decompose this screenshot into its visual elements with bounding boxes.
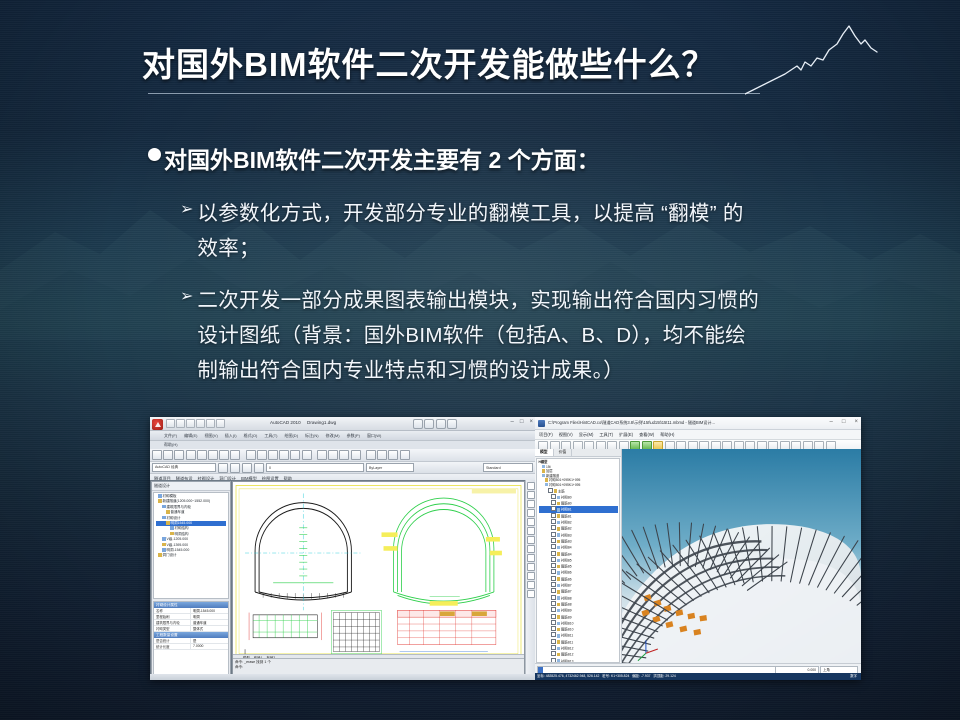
checkbox-icon[interactable] [551, 595, 556, 600]
bim-body: 模型价值 H模型15t加层新建隧道衬砌B01+095̈K1+095衬砌B01+0… [535, 449, 861, 664]
checkbox-icon[interactable] [551, 582, 556, 587]
checkbox-icon[interactable] [551, 620, 556, 625]
bim-menu-item-1[interactable]: 视图(V) [559, 432, 573, 438]
status-right-text: 数字 [850, 673, 857, 680]
bim-panel-tab-0[interactable]: 模型 [535, 449, 554, 456]
checkbox-icon[interactable] [551, 569, 556, 574]
workspace-combo[interactable]: AutoCAD 经典 [152, 463, 216, 472]
checkbox-icon[interactable] [551, 513, 556, 518]
bim-model-tree[interactable]: H模型15t加层新建隧道衬砌B01+095̈K1+095衬砌B01+095̈K1… [536, 458, 620, 663]
autocad-drawing-canvas[interactable]: 模型布局1布局2 命令: _erase 找到 1 个 命令: [232, 481, 525, 680]
property-value[interactable]: 整体式 [190, 626, 228, 631]
toolbar-icon-7[interactable] [230, 450, 240, 460]
autocad-app-title: AutoCAD 2010 [270, 420, 301, 425]
node-icon [557, 603, 561, 607]
node-icon [557, 533, 561, 537]
bim-menu-item-5[interactable]: 查看(W) [639, 432, 654, 438]
erase-icon[interactable] [527, 482, 535, 490]
checkbox-icon[interactable] [551, 601, 556, 606]
layer-lock-icon[interactable] [254, 463, 264, 473]
rotate-icon[interactable] [527, 536, 535, 544]
node-icon [158, 499, 162, 503]
checkbox-icon[interactable] [551, 607, 556, 612]
tunnel-design-palette: 隧道设计 衬砌模板 新建隧道(1205.000~1552.000) 建筑限界与内… [151, 481, 231, 679]
node-icon [162, 543, 166, 547]
toolbar-icon-20[interactable] [388, 450, 398, 460]
checkbox-icon[interactable] [551, 500, 556, 505]
palette-title: 隧道设计 [152, 482, 230, 491]
layer-value: 0 [269, 466, 271, 470]
property-key: 名称 [154, 608, 190, 613]
open-icon[interactable] [176, 419, 185, 428]
textstyle-value: Standard [486, 466, 501, 470]
node-icon [545, 483, 549, 487]
sub-bullet-1: ➢ 以参数化方式，开发部分专业的翻模工具，以提高 “翻模” 的 效率； [180, 196, 880, 266]
toolbar-icon-17[interactable] [351, 450, 361, 460]
scale-icon[interactable] [527, 545, 535, 553]
infocenter [413, 419, 458, 429]
node-icon [557, 647, 561, 651]
autocad-titlebar: AutoCAD 2010 Drawing1.dwg – □ × [150, 417, 535, 431]
window-controls: – □ × [511, 419, 533, 425]
command-line-prompt: 命令: [235, 665, 522, 670]
bim-menubar: 项目(F)视图(V)显示(M)工具(T)扩展(E)查看(W)帮助(H) [535, 430, 861, 440]
checkbox-icon[interactable] [551, 576, 556, 581]
workspace-value: AutoCAD 经典 [155, 465, 178, 470]
checkbox-icon[interactable] [551, 538, 556, 543]
autocad-standard-toolbar [150, 449, 535, 462]
bim-titlebar: C:\Program Files\HintCAD.co\隧道CAD系统3.8\示… [535, 417, 861, 430]
minimize-icon[interactable]: – [830, 419, 833, 425]
checkbox-icon[interactable] [551, 494, 556, 499]
search-icon[interactable] [413, 419, 423, 429]
star-icon[interactable] [436, 419, 446, 429]
checkbox-icon[interactable] [551, 651, 556, 656]
node-icon [557, 496, 561, 500]
slide-root: 对国外BIM软件二次开发能做些什么？ 对国外BIM软件二次开发主要有 2 个方面… [0, 0, 960, 720]
node-icon [557, 540, 561, 544]
checkbox-icon[interactable] [551, 626, 556, 631]
screenshot-image: AutoCAD 2010 Drawing1.dwg – □ × 文件(F)编辑(… [150, 417, 861, 680]
layer-on-icon[interactable] [230, 463, 240, 473]
menu-item-1[interactable]: 编辑(E) [184, 433, 197, 439]
toolbar-icon-14[interactable] [317, 450, 327, 460]
menu-item-help[interactable]: 帮助(H) [164, 442, 178, 448]
minimize-icon[interactable]: – [511, 419, 514, 425]
new-icon[interactable] [166, 419, 175, 428]
checkbox-icon[interactable] [551, 588, 556, 593]
autocad-menubar-row2: 帮助(H) [150, 441, 535, 449]
sub-bullet-2: ➢ 二次开发一部分成果图表输出模块，实现输出符合国内习惯的 设计图纸（背景：国外… [180, 283, 880, 388]
property-key: 建筑限界与内轮 [154, 620, 190, 625]
node-icon [557, 527, 561, 531]
node-icon [557, 640, 561, 644]
undo-icon[interactable] [196, 419, 205, 428]
tunnel-tree[interactable]: 衬砌模板 新建隧道(1205.000~1552.000) 建筑限界与内轮 普通车… [153, 492, 229, 599]
property-value[interactable]: 普通车道 [190, 620, 228, 625]
bim-menu-item-6[interactable]: 帮助(H) [660, 432, 674, 438]
node-icon [557, 615, 561, 619]
node-icon [557, 508, 561, 512]
toolbar-icon-16[interactable] [339, 450, 349, 460]
node-icon [557, 565, 561, 569]
checkbox-icon[interactable] [551, 614, 556, 619]
explode-icon[interactable] [527, 590, 535, 598]
station-value: K1+305.824 [611, 674, 629, 678]
close-icon[interactable]: × [854, 419, 858, 425]
arrow-bullet-icon: ➢ [180, 196, 193, 224]
toolbar-icon-11[interactable] [279, 450, 289, 460]
redo-icon[interactable] [206, 419, 215, 428]
bim-3d-viewport[interactable] [622, 449, 861, 664]
bim-menu-item-0[interactable]: 项目(F) [539, 432, 553, 438]
node-icon [557, 653, 561, 657]
checkbox-icon[interactable] [551, 632, 556, 637]
quick-access-toolbar [166, 419, 225, 428]
node-icon [170, 532, 174, 536]
node-icon [542, 469, 546, 473]
node-icon [158, 553, 162, 557]
node-icon [557, 590, 561, 594]
station-label: 桩号: [602, 674, 610, 678]
checkbox-icon[interactable] [551, 557, 556, 562]
menu-item-7[interactable]: 标注(N) [305, 433, 319, 439]
node-icon [162, 516, 166, 520]
arrow-bullet-icon: ➢ [180, 283, 193, 311]
toolbar-icon-2[interactable] [174, 450, 184, 460]
title-underline [148, 93, 760, 94]
bim-model-panel: 模型价值 H模型15t加层新建隧道衬砌B01+095̈K1+095衬砌B01+0… [535, 449, 622, 664]
node-icon [162, 548, 166, 552]
help-icon[interactable] [424, 419, 434, 429]
coordinate-readout: 坐标: 483525.476, 4732462.948, 526.142 桩号:… [535, 673, 861, 680]
toolbar-icon-13[interactable] [302, 450, 312, 460]
autocad-properties-toolbar: AutoCAD 经典 0 ByLayer Standard [150, 462, 535, 474]
node-icon [557, 552, 561, 556]
node-icon [557, 571, 561, 575]
toolbar-icon-21[interactable] [400, 450, 410, 460]
bim-window-controls: – □ × [830, 419, 858, 425]
toolbar-icon-12[interactable] [290, 450, 300, 460]
elev-label: 拱顶距: [653, 674, 664, 678]
property-key: 是否统计 [154, 638, 190, 643]
linetype-combo[interactable]: ByLayer [366, 463, 414, 472]
toolbar-icon-0[interactable] [152, 450, 162, 460]
property-value[interactable]: 是 [190, 638, 228, 643]
bim-panel-tab-1[interactable]: 价值 [554, 449, 573, 456]
checkbox-icon[interactable] [551, 525, 556, 530]
menu-item-3[interactable]: 插入(I) [225, 433, 237, 439]
property-row[interactable]: 统计长度7.0000 [154, 644, 228, 650]
menu-item-2[interactable]: 视图(V) [204, 433, 217, 439]
checkbox-icon[interactable] [551, 506, 556, 511]
toolbar-icon-1[interactable] [163, 450, 173, 460]
tunnel-rebar-3d-model [622, 449, 861, 664]
node-icon [545, 478, 549, 482]
checkbox-icon[interactable] [551, 639, 556, 644]
bullet-main: 对国外BIM软件二次开发主要有 2 个方面： [148, 141, 600, 175]
toolbar-icon-15[interactable] [328, 450, 338, 460]
offset-value: -7.937 [641, 674, 651, 678]
bim-menu-item-2[interactable]: 显示(M) [579, 432, 594, 438]
property-value[interactable]: 7.0000 [190, 644, 228, 649]
bim-menu-item-3[interactable]: 工具(T) [599, 432, 613, 438]
menu-item-10[interactable]: 窗口(W) [367, 433, 381, 439]
checkbox-icon[interactable] [551, 532, 556, 537]
node-icon [162, 505, 166, 509]
maximize-icon[interactable]: □ [842, 419, 846, 425]
layer-manager-icon[interactable] [218, 463, 228, 473]
toolbar-icon-3[interactable] [186, 450, 196, 460]
autocad-window: AutoCAD 2010 Drawing1.dwg – □ × 文件(F)编辑(… [150, 417, 535, 680]
mountain-peak-line-icon [745, 22, 960, 100]
save-icon[interactable] [186, 419, 195, 428]
toolbar-icon-6[interactable] [219, 450, 229, 460]
node-icon [557, 521, 561, 525]
property-value[interactable]: 明洞-1545.000 [190, 608, 228, 613]
linetype-value: ByLayer [369, 466, 382, 470]
node-icon [557, 584, 561, 588]
node-icon [170, 526, 174, 530]
node-icon [557, 514, 561, 518]
autocad-title-text: AutoCAD 2010 Drawing1.dwg [270, 420, 336, 425]
sign-in-icon[interactable] [447, 419, 457, 429]
checkbox-icon[interactable] [551, 544, 556, 549]
move-icon[interactable] [527, 527, 535, 535]
node-icon [542, 474, 546, 478]
checkbox-icon[interactable] [551, 645, 556, 650]
checkbox-icon[interactable] [548, 488, 553, 493]
node-icon [557, 622, 561, 626]
node-icon [557, 596, 561, 600]
properties-panel: 衬砌设计属性名称明洞-1545.000里程始刷明洞建筑限界与内轮普通车道衬砌类型… [153, 601, 229, 677]
bim-window: C:\Program Files\HintCAD.co\隧道CAD系统3.8\示… [535, 417, 861, 680]
node-icon [166, 510, 170, 514]
property-value[interactable]: 明洞 [190, 614, 228, 619]
tunnel-drawing [233, 482, 524, 679]
maximize-icon[interactable]: □ [520, 419, 524, 425]
node-icon [162, 537, 166, 541]
bullet-main-label: 对国外BIM软件二次开发主要有 2 个方面： [164, 141, 600, 175]
node-icon [166, 521, 170, 525]
autocad-body: 隧道设计 衬砌模板 新建隧道(1205.000~1552.000) 建筑限界与内… [150, 480, 535, 680]
node-icon [542, 465, 546, 469]
sub-bullet-2-label: 二次开发一部分成果图表输出模块，实现输出符合国内习惯的 设计图纸（背景：国外BI… [197, 283, 759, 388]
page-title: 对国外BIM软件二次开发能做些什么？ [142, 38, 716, 86]
select-mode-value: 上角 [823, 668, 830, 672]
autocad-modify-toolbar [525, 480, 535, 680]
toolbar-icon-8[interactable] [246, 450, 256, 460]
stretch-icon[interactable] [527, 554, 535, 562]
tree-node[interactable]: 洞门设计 [156, 553, 226, 558]
node-icon [557, 634, 561, 638]
menu-item-5[interactable]: 工具(T) [264, 433, 277, 439]
layer-combo[interactable]: 0 [266, 463, 364, 472]
property-key: 里程始刷 [154, 614, 190, 619]
toolbar-icon-18[interactable] [366, 450, 376, 460]
offset-icon[interactable] [527, 509, 535, 517]
autocad-status-bar [150, 674, 535, 680]
autocad-logo-icon [152, 419, 163, 430]
bim-panel-tabs[interactable]: 模型价值 [535, 449, 621, 457]
bim-app-icon [538, 420, 545, 427]
bim-menu-item-4[interactable]: 扩展(E) [619, 432, 633, 438]
menu-item-0[interactable]: 文件(F) [164, 433, 177, 439]
node-icon [158, 494, 162, 498]
close-icon[interactable]: × [529, 419, 533, 425]
copy-icon[interactable] [527, 491, 535, 499]
trim-icon[interactable] [527, 563, 535, 571]
node-icon [554, 489, 558, 493]
offset-label: 偏距: [632, 674, 640, 678]
elev-value: 29.124 [665, 674, 675, 678]
toolbar-icon-10[interactable] [268, 450, 278, 460]
node-icon [557, 577, 561, 581]
node-icon [557, 628, 561, 632]
autocad-document-name: Drawing1.dwg [307, 420, 336, 425]
extend-icon[interactable] [527, 572, 535, 580]
checkbox-icon[interactable] [551, 563, 556, 568]
plot-icon[interactable] [216, 419, 225, 428]
toolbar-icon-4[interactable] [197, 450, 207, 460]
coord-label: 坐标: [537, 674, 545, 678]
menu-item-4[interactable]: 格式(O) [244, 433, 258, 439]
menu-item-9[interactable]: 参数(P) [347, 433, 360, 439]
textstyle-combo[interactable]: Standard [483, 463, 533, 472]
checkbox-icon[interactable] [551, 658, 556, 663]
bim-title-text: C:\Program Files\HintCAD.co\隧道CAD系统3.8\示… [548, 420, 715, 426]
autocad-menubar: 文件(F)编辑(E)视图(V)插入(I)格式(O)工具(T)绘图(D)标注(N)… [150, 431, 535, 441]
node-icon [557, 502, 561, 506]
checkbox-icon[interactable] [551, 519, 556, 524]
layer-freeze-icon[interactable] [242, 463, 252, 473]
node-icon [557, 609, 561, 613]
mirror-icon[interactable] [527, 500, 535, 508]
property-key: 衬砌类型 [154, 626, 190, 631]
fillet-icon[interactable] [527, 581, 535, 589]
checkbox-icon[interactable] [551, 551, 556, 556]
bim-status-bar: 0.000 上角 坐标: 483525.476, 4732462.948, 52… [535, 663, 861, 680]
bullet-dot-icon [148, 148, 161, 161]
toolbar-icon-19[interactable] [377, 450, 387, 460]
toolbar-icon-5[interactable] [208, 450, 218, 460]
node-icon [557, 559, 561, 563]
array-icon[interactable] [527, 518, 535, 526]
coord-value: 483525.476, 4732462.948, 526.142 [546, 674, 600, 678]
sub-bullet-1-label: 以参数化方式，开发部分专业的翻模工具，以提高 “翻模” 的 效率； [197, 196, 743, 266]
toolbar-icon-9[interactable] [257, 450, 267, 460]
menu-item-8[interactable]: 修改(M) [326, 433, 340, 439]
node-icon [557, 546, 561, 550]
property-key: 统计长度 [154, 644, 190, 649]
menu-item-6[interactable]: 绘图(D) [284, 433, 298, 439]
